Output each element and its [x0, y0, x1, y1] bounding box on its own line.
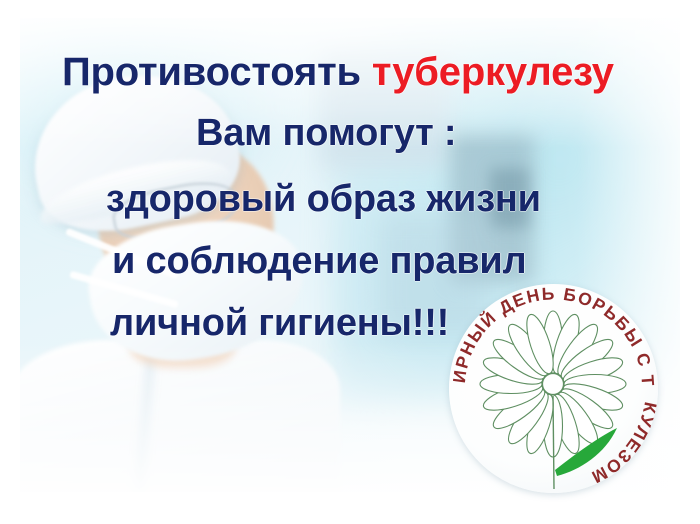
emblem-daisy-stem [553, 396, 554, 489]
background-equipment-shape-d [380, 213, 490, 333]
poster-root: ВСЕМИРНЫЙ ДЕНЬ БОРЬБЫ С ТУБЕР КУЛЕЗОМ [0, 0, 700, 524]
emblem-daisy-center [543, 374, 564, 395]
world-tb-day-emblem: ВСЕМИРНЫЙ ДЕНЬ БОРЬБЫ С ТУБЕР КУЛЕЗОМ [449, 284, 658, 493]
